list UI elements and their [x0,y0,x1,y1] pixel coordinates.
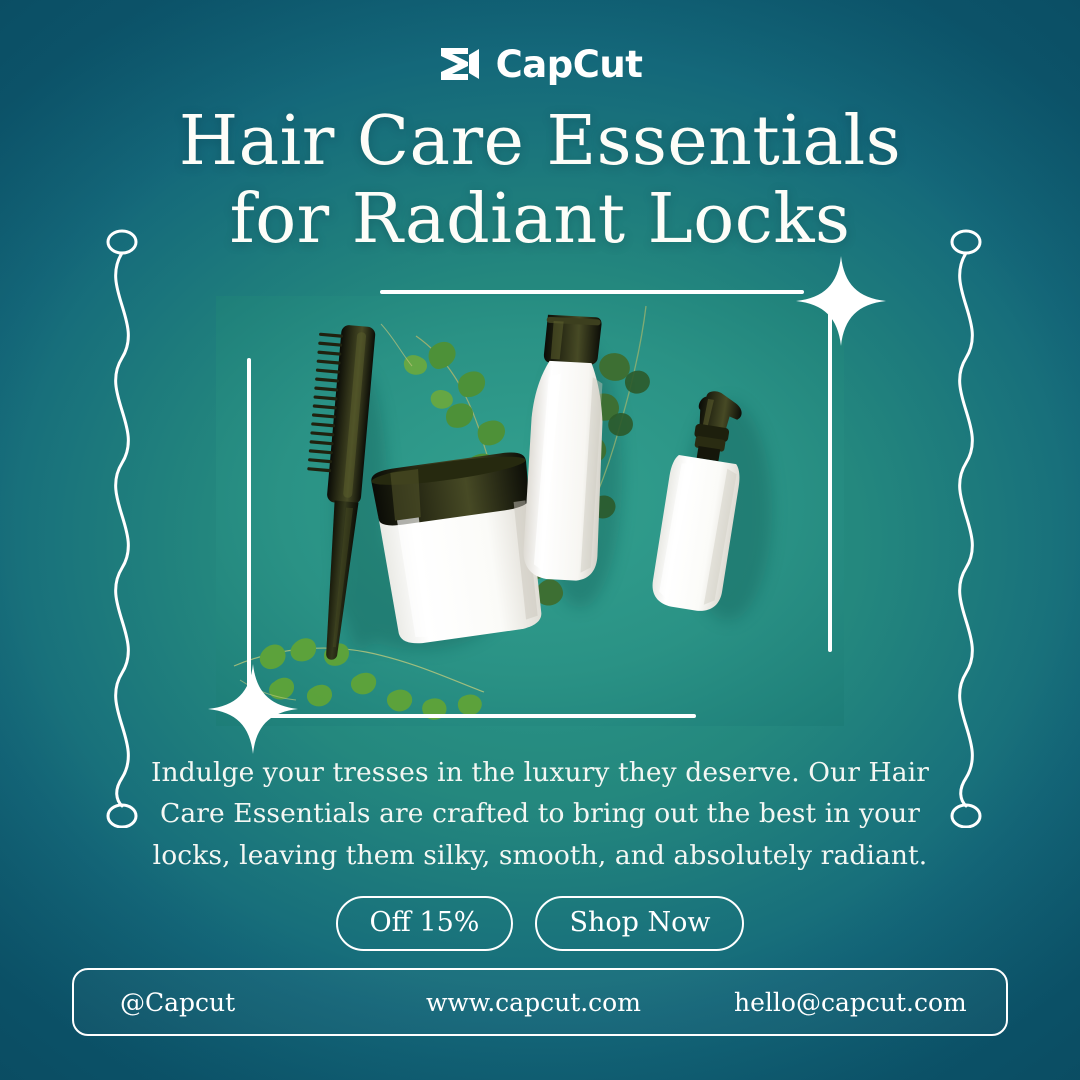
social-handle[interactable]: @Capcut [120,990,235,1015]
frame-line-top [380,290,804,294]
four-point-sparkle-icon [208,664,298,754]
offer-button[interactable]: Off 15% [336,896,514,951]
capcut-logo-icon [438,44,482,84]
contact-bar: @Capcut www.capcut.com hello@capcut.com [72,968,1008,1036]
cream-jar-icon [370,450,549,647]
frame-line-bottom [252,714,696,718]
product-photo-scene [216,296,844,726]
frame-line-right [828,300,832,652]
headline-line-2: for Radiant Locks [0,181,1080,259]
wavy-line-icon [936,228,996,828]
shop-now-button[interactable]: Shop Now [535,896,744,951]
brand-logo: CapCut [0,44,1080,84]
page-title: Hair Care Essentials for Radiant Locks [0,103,1080,258]
cta-row: Off 15% Shop Now [0,896,1080,951]
description-text: Indulge your tresses in the luxury they … [140,752,940,876]
product-photo [216,296,844,726]
website-url[interactable]: www.capcut.com [426,990,641,1015]
headline-line-1: Hair Care Essentials [179,102,901,181]
poster: CapCut Hair Care Essentials for Radiant … [0,0,1080,1080]
four-point-sparkle-icon [796,256,886,346]
brand-name: CapCut [496,46,643,83]
wavy-line-icon [92,228,152,828]
frame-line-left [247,358,251,710]
email-address[interactable]: hello@capcut.com [734,990,967,1015]
